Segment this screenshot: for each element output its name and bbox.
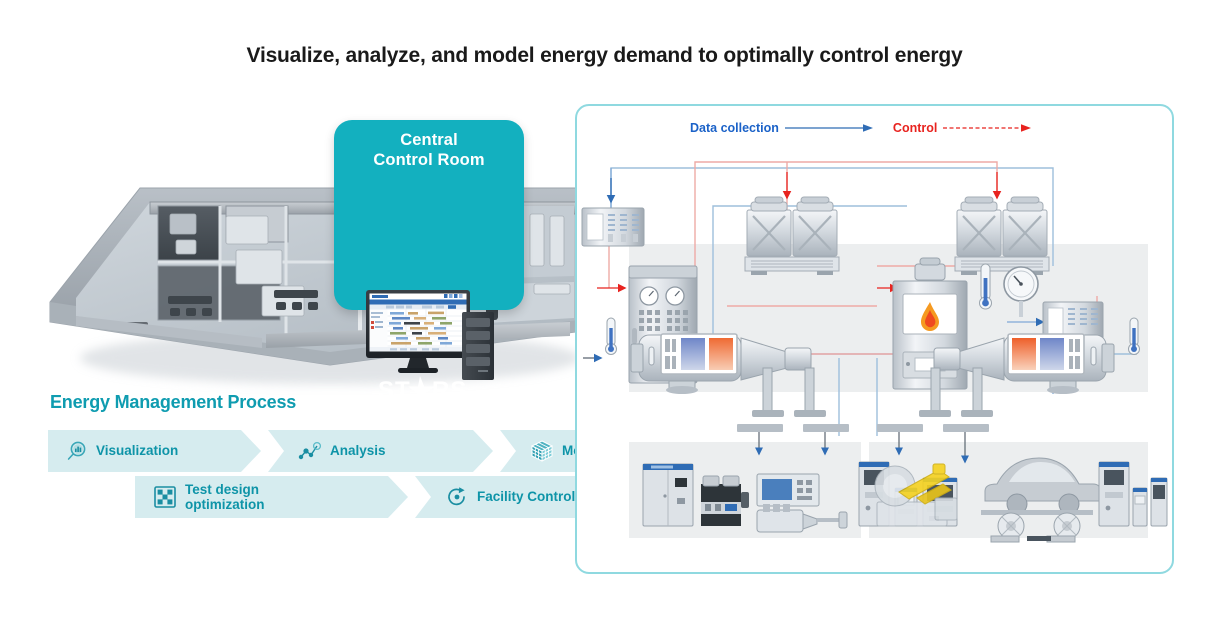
- facility-floorplan-illustration: [30, 90, 630, 400]
- control-card-title: Central Control Room: [334, 130, 524, 170]
- process-step-label: Facility Control: [477, 489, 575, 504]
- control-card-title-line1: Central: [400, 131, 458, 149]
- control-card-title-line2: Control Room: [373, 151, 484, 169]
- process-step-label: Visualization: [96, 443, 178, 458]
- svg-text:Enterprise: Enterprise: [430, 403, 477, 412]
- process-step-label: Test design optimization: [185, 482, 265, 512]
- scatter-network-icon: [298, 440, 322, 462]
- process-step-visualization[interactable]: Visualization: [48, 430, 261, 472]
- grid-matrix-icon: [153, 485, 177, 509]
- magnifier-bar-chart-icon: [66, 440, 88, 462]
- cooling-tower-group-1: [745, 197, 839, 275]
- stars-enterprise-logo: ST RS Enterprise: [334, 376, 524, 417]
- infographic-root: Visualize, analyze, and model energy dem…: [0, 0, 1209, 625]
- process-step-analysis[interactable]: Analysis: [268, 430, 493, 472]
- cooling-tower-group-2: [955, 197, 1049, 275]
- svg-text:RS: RS: [432, 377, 467, 404]
- circular-arrow-target-icon: [445, 485, 469, 509]
- monitor-and-server-illustration: [366, 290, 496, 387]
- process-step-label: Analysis: [330, 443, 386, 458]
- svg-text:ST: ST: [378, 377, 411, 404]
- cube-3d-icon: [530, 439, 554, 463]
- equipment-flow-diagram: [577, 106, 1168, 568]
- thermometer-left: [606, 318, 617, 355]
- thermometer-right: [1129, 318, 1140, 355]
- page-title: Visualize, analyze, and model energy dem…: [0, 44, 1209, 68]
- process-step-test-design-optimization[interactable]: Test design optimization: [135, 476, 408, 518]
- thermometer-center: [980, 264, 992, 309]
- process-heading: Energy Management Process: [50, 392, 296, 413]
- central-control-room-card[interactable]: Central Control Room: [334, 120, 524, 310]
- data-logger-left: [582, 208, 644, 246]
